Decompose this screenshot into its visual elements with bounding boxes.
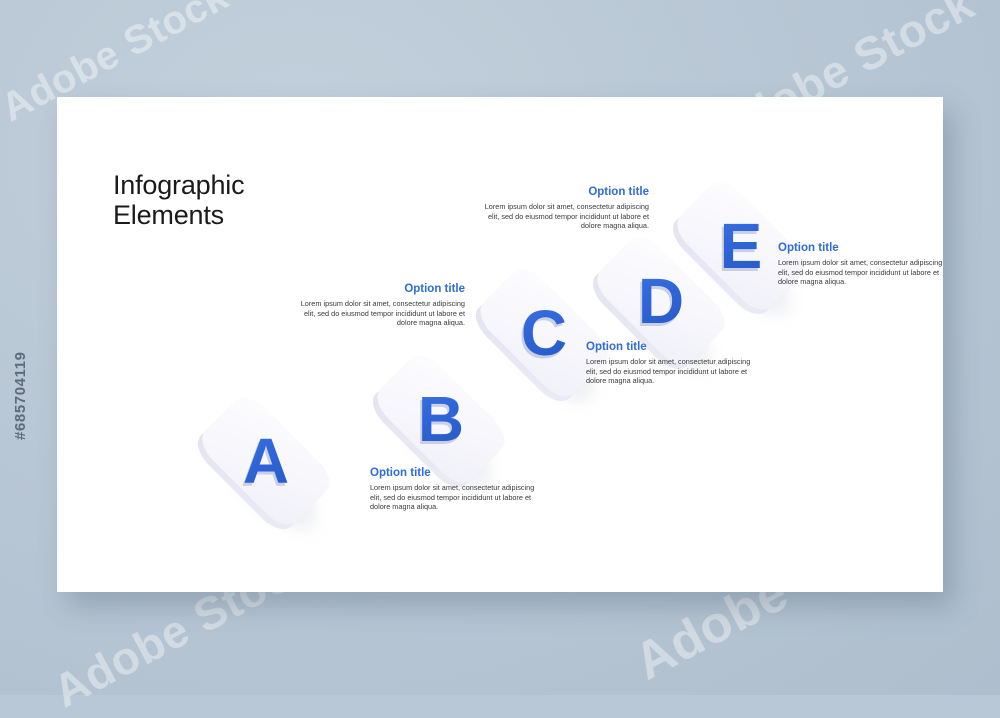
tile-body: A [195,390,338,533]
step-text-a: Option title Lorem ipsum dolor sit amet,… [370,467,538,512]
step-tile-a[interactable]: A [202,397,330,525]
step-body-a: Lorem ipsum dolor sit amet, consectetur … [370,483,538,512]
step-text-e: Option title Lorem ipsum dolor sit amet,… [778,242,943,287]
tile-top-face: A [195,390,338,533]
page-title-line-2: Elements [113,200,244,230]
page-title: Infographic Elements [113,170,244,230]
step-body-e: Lorem ipsum dolor sit amet, consectetur … [778,258,943,287]
page-title-line-1: Infographic [113,170,244,200]
stock-id-watermark: #685704119 [12,351,29,440]
step-text-b: Option title Lorem ipsum dolor sit amet,… [297,283,465,328]
step-title-c: Option title [481,186,649,198]
step-text-c: Option title Lorem ipsum dolor sit amet,… [481,186,649,231]
step-text-d: Option title Lorem ipsum dolor sit amet,… [586,341,754,386]
step-body-d: Lorem ipsum dolor sit amet, consectetur … [586,357,754,386]
infographic-slide: Infographic Elements A B C [57,97,943,592]
tile-letter-a: A [202,397,330,525]
step-title-e: Option title [778,242,943,254]
step-title-d: Option title [586,341,754,353]
step-title-b: Option title [297,283,465,295]
step-title-a: Option title [370,467,538,479]
step-body-b: Lorem ipsum dolor sit amet, consectetur … [297,299,465,328]
step-body-c: Lorem ipsum dolor sit amet, consectetur … [481,202,649,231]
